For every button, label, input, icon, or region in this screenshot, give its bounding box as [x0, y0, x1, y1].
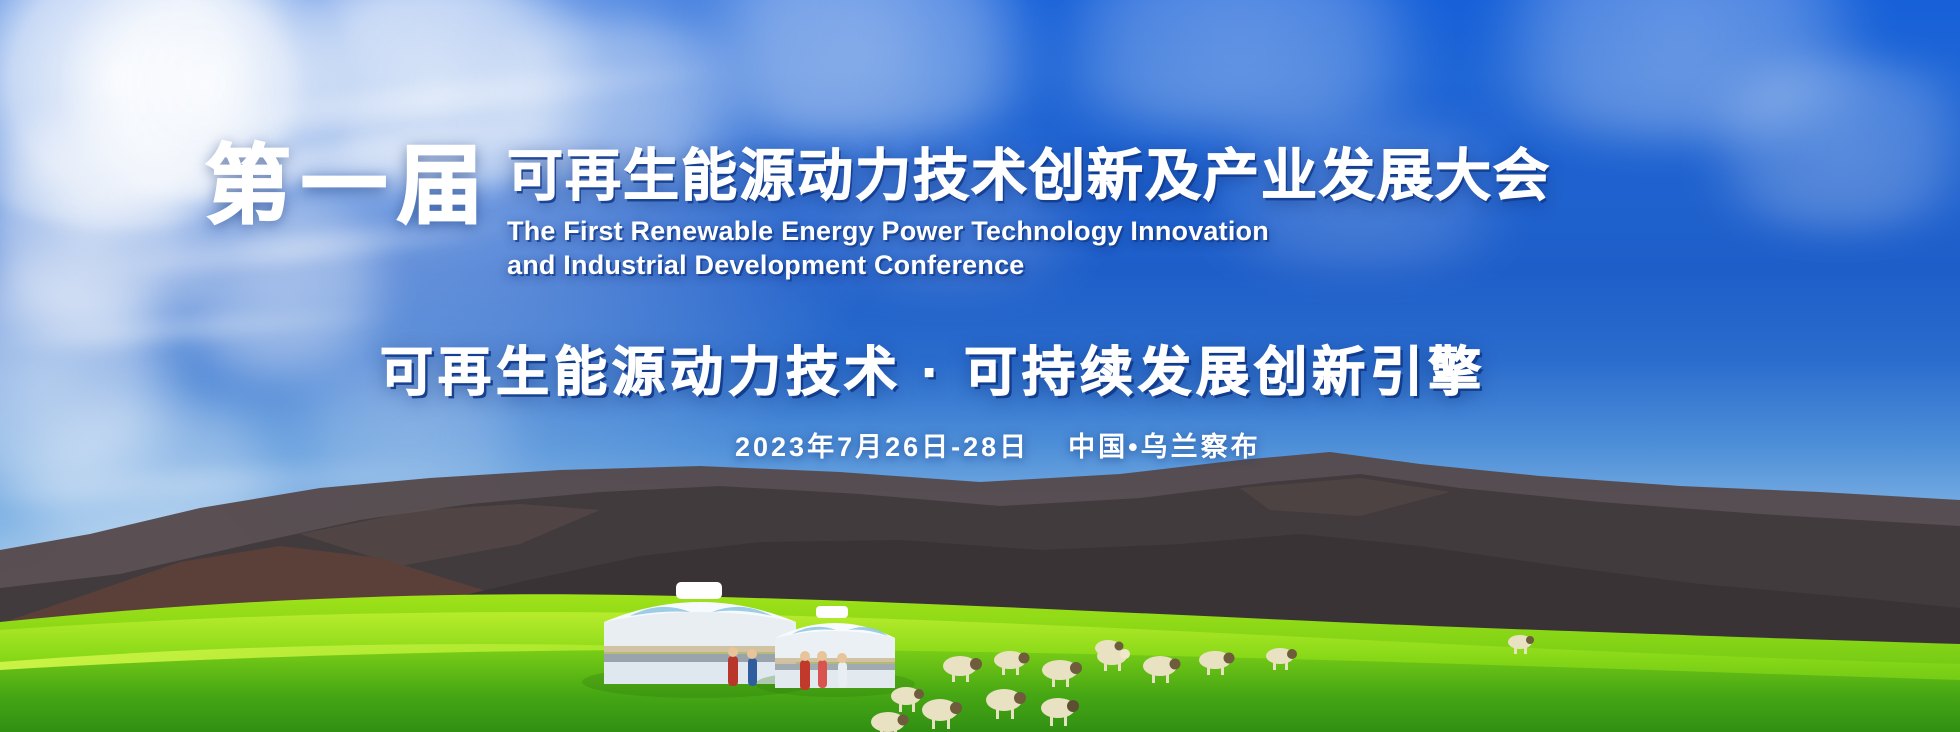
conference-location: 中国•乌兰察布 — [1068, 432, 1260, 462]
english-subtitle-line2: and Industrial Development Conference — [507, 248, 1551, 282]
english-subtitle-line1: The First Renewable Energy Power Technol… — [507, 214, 1551, 248]
title-stack: 可再生能源动力技术创新及产业发展大会 The First Renewable E… — [507, 140, 1551, 283]
english-subtitle: The First Renewable Energy Power Technol… — [507, 214, 1551, 282]
page-title: 可再生能源动力技术创新及产业发展大会 — [507, 146, 1551, 206]
date-location-bar: 2023年7月26日-28日 中国•乌兰察布 — [735, 425, 1261, 464]
title-row: 第一届 可再生能源动力技术创新及产业发展大会 The First Renewab… — [205, 140, 1551, 283]
banner-text-zone: 第一届 可再生能源动力技术创新及产业发展大会 The First Renewab… — [0, 0, 1960, 620]
edition-label: 第一届 — [205, 140, 493, 228]
conference-banner: 第一届 可再生能源动力技术创新及产业发展大会 The First Renewab… — [0, 0, 1960, 732]
conference-date: 2023年7月26日-28日 — [735, 432, 1029, 462]
conference-slogan: 可再生能源动力技术 · 可持续发展创新引擎 — [380, 330, 1486, 406]
grazing-sheep-flock — [871, 635, 1534, 732]
